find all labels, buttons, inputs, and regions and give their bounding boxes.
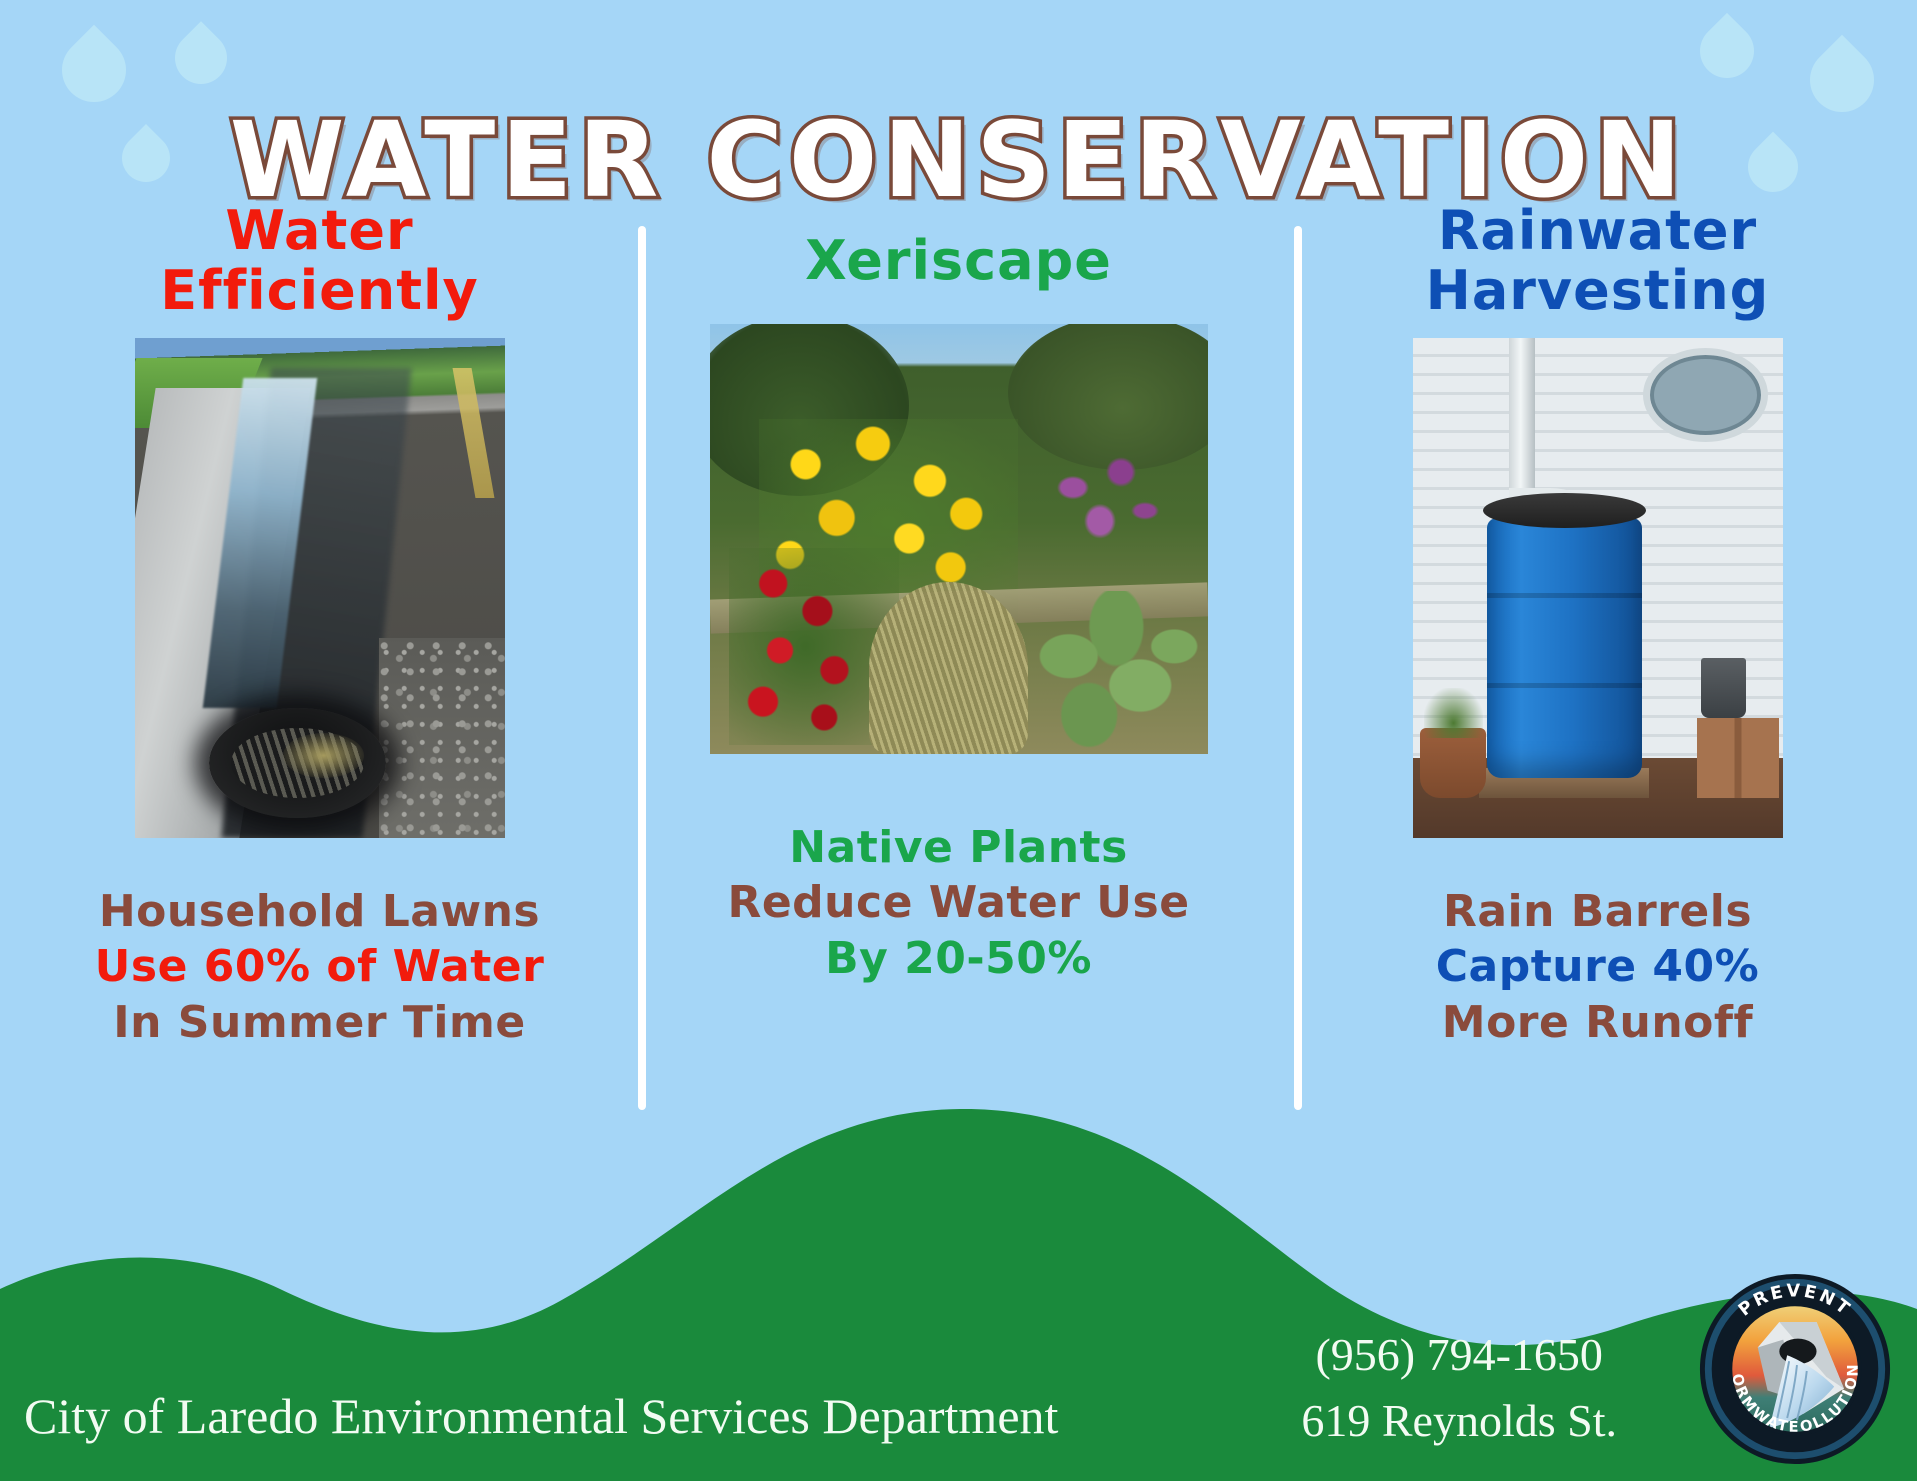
photo-rain-barrel (1413, 338, 1783, 838)
barrel-lid (1483, 493, 1646, 528)
barrel-rib (1487, 683, 1642, 688)
caption-line: Reduce Water Use (727, 875, 1189, 930)
column-2-caption: Native Plants Reduce Water Use By 20-50% (727, 820, 1189, 986)
photo-rain-barrel-art (1413, 338, 1783, 838)
ornamental-grass (869, 582, 1028, 754)
caption-line: By 20-50% (727, 931, 1189, 986)
cinder-blocks (1697, 718, 1778, 798)
photo-xeriscape-garden-art (710, 324, 1208, 754)
road-marking (452, 368, 493, 498)
caption-line: Rain Barrels (1436, 884, 1760, 939)
column-3-caption: Rain Barrels Capture 40% More Runoff (1436, 884, 1760, 1050)
prevent-stormwater-pollution-logo: PREVENT STORMWATER POLLUTION (1697, 1271, 1893, 1467)
photo-xeriscape-garden (710, 324, 1208, 754)
poster-canvas: WATER CONSERVATION Water Efficiently (0, 0, 1917, 1481)
tips-columns: Water Efficiently Household Lawns (0, 186, 1917, 1166)
photo-street-runoff (135, 338, 505, 838)
caption-line: Household Lawns (95, 884, 545, 939)
page-title: WATER CONSERVATION (230, 104, 1687, 216)
caption-line: In Summer Time (95, 995, 545, 1050)
caption-line: Native Plants (727, 820, 1189, 875)
poster-title-container: WATER CONSERVATION (0, 34, 1917, 286)
street-address: 619 Reynolds St. (1301, 1388, 1617, 1453)
organization-name: City of Laredo Environmental Services De… (24, 1387, 1058, 1445)
column-xeriscape: Xeriscape Native Plants Reduce Water Use… (639, 186, 1278, 1166)
column-divider-1 (638, 226, 646, 1110)
column-water-efficiently: Water Efficiently Household Lawns (0, 186, 639, 1166)
contact-block: (956) 794-1650 619 Reynolds St. (1301, 1322, 1617, 1453)
gravel-shoulder (379, 638, 505, 838)
debris-on-grate (283, 733, 364, 778)
caption-line: More Runoff (1436, 995, 1760, 1050)
potted-plant (1424, 688, 1483, 738)
column-rainwater-harvesting: Rainwater Harvesting (1278, 186, 1917, 1166)
column-divider-2 (1294, 226, 1302, 1110)
caption-line: Capture 40% (1436, 939, 1760, 994)
phone-number[interactable]: (956) 794-1650 (1301, 1322, 1617, 1387)
column-1-caption: Household Lawns Use 60% of Water In Summ… (95, 884, 545, 1050)
caption-line: Use 60% of Water (95, 939, 545, 994)
bucket (1701, 658, 1745, 718)
seal-icon: PREVENT STORMWATER POLLUTION (1697, 1271, 1893, 1467)
purple-salvia (1028, 436, 1177, 565)
barrel-rib (1487, 593, 1642, 598)
footer-banner: City of Laredo Environmental Services De… (0, 1051, 1917, 1481)
photo-street-runoff-art (135, 338, 505, 838)
blue-rain-barrel (1487, 518, 1642, 778)
prickly-pear-cactus (1028, 591, 1197, 754)
flower-pot (1420, 728, 1487, 798)
oval-window (1643, 348, 1768, 442)
